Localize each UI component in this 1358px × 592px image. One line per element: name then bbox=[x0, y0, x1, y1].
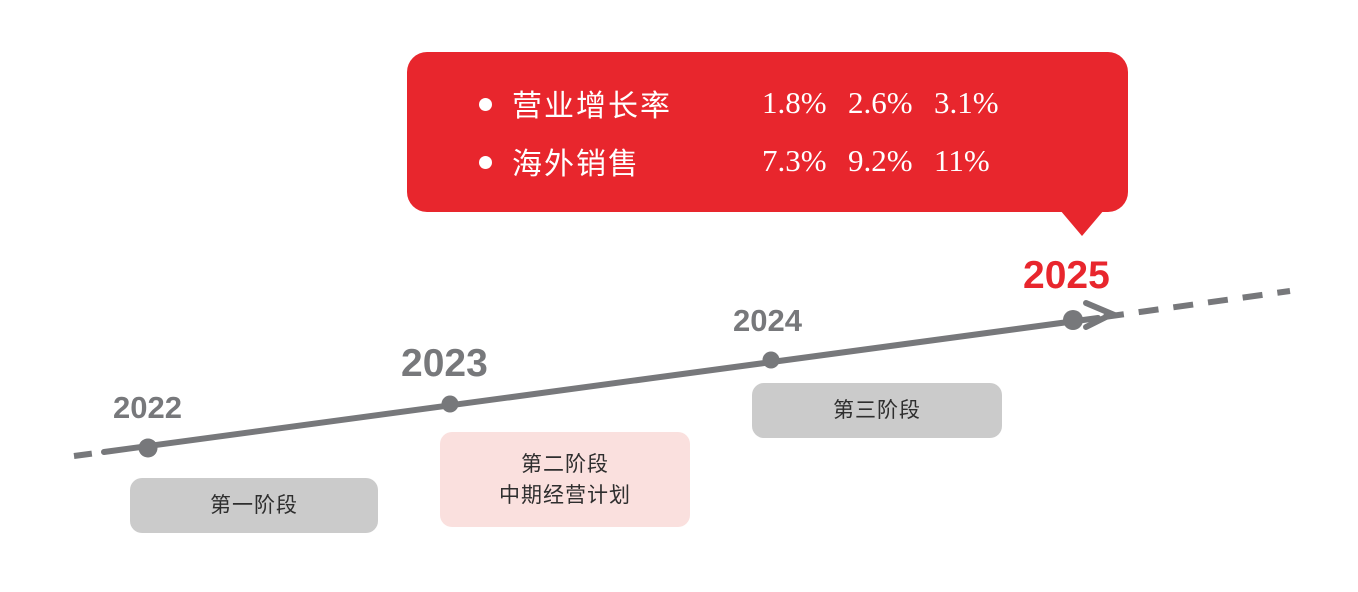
stage-three-line-1: 第三阶段 bbox=[833, 395, 921, 425]
metric-label-overseas: 海外销售 bbox=[512, 139, 762, 183]
metrics-callout: 营业增长率 1.8% 2.6% 3.1% 海外销售 7.3% 9.2% 11% bbox=[407, 52, 1128, 212]
milestone-dot-2023 bbox=[442, 396, 459, 413]
metric-values-growth: 1.8% 2.6% 3.1% bbox=[762, 85, 1020, 121]
stage-two-line-1: 第二阶段 bbox=[521, 449, 609, 479]
bullet-dot-icon bbox=[479, 156, 492, 169]
milestone-dot-2025 bbox=[1063, 310, 1083, 330]
year-label-2023: 2023 bbox=[401, 342, 488, 386]
timeline-dash-end bbox=[1104, 291, 1290, 317]
arrowhead-icon bbox=[1086, 303, 1112, 327]
metric-value-growth-2023: 1.8% bbox=[762, 85, 848, 121]
metric-value-growth-2025: 3.1% bbox=[934, 85, 1020, 121]
bullet-dot-icon bbox=[479, 98, 492, 111]
callout-tail-icon bbox=[1060, 210, 1104, 236]
year-label-2022: 2022 bbox=[113, 390, 182, 426]
stage-box-one: 第一阶段 bbox=[130, 478, 378, 533]
year-label-2025: 2025 bbox=[1023, 254, 1110, 298]
timeline-dash-start bbox=[74, 452, 104, 456]
milestone-dot-2024 bbox=[763, 352, 780, 369]
metric-value-overseas-2025: 11% bbox=[934, 143, 1020, 179]
metric-values-overseas: 7.3% 9.2% 11% bbox=[762, 143, 1020, 179]
year-label-2024: 2024 bbox=[733, 303, 802, 339]
metric-value-growth-2024: 2.6% bbox=[848, 85, 934, 121]
metric-value-overseas-2024: 9.2% bbox=[848, 143, 934, 179]
metric-row-growth: 营业增长率 1.8% 2.6% 3.1% bbox=[407, 74, 1128, 132]
timeline-diagram: 营业增长率 1.8% 2.6% 3.1% 海外销售 7.3% 9.2% 11% bbox=[0, 0, 1358, 592]
milestone-dot-2022 bbox=[139, 439, 158, 458]
stage-two-line-2: 中期经营计划 bbox=[499, 480, 631, 510]
metric-label-growth: 营业增长率 bbox=[512, 81, 762, 125]
metric-row-overseas: 海外销售 7.3% 9.2% 11% bbox=[407, 132, 1128, 190]
stage-one-line-1: 第一阶段 bbox=[210, 490, 298, 520]
metric-value-overseas-2023: 7.3% bbox=[762, 143, 848, 179]
stage-box-two: 第二阶段 中期经营计划 bbox=[440, 432, 690, 527]
stage-box-three: 第三阶段 bbox=[752, 383, 1002, 438]
